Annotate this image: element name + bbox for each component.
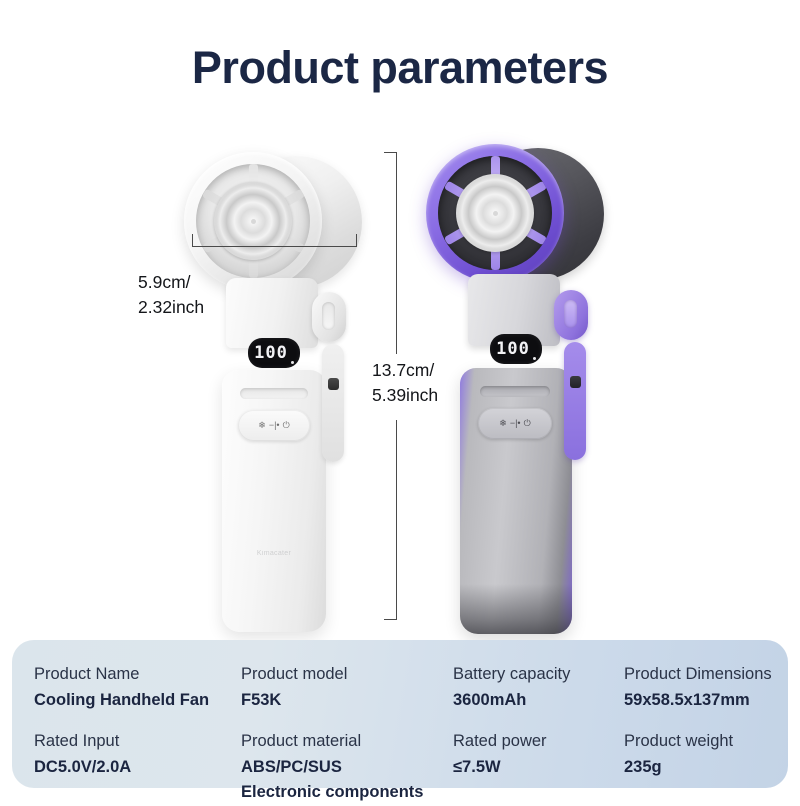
spec-item-rated-input: Rated Input DC5.0V/2.0A <box>34 729 241 806</box>
spec-item-product-weight: Product weight 235g <box>624 729 800 806</box>
white-fan-side-strip <box>322 344 344 462</box>
spec-item-rated-power: Rated power ≤7.5W <box>453 729 624 806</box>
spec-item-product-model: Product model F53K <box>241 662 453 713</box>
spec-label: Product Name <box>34 662 241 688</box>
purple-fan-grille <box>438 156 552 270</box>
spec-label: Product weight <box>624 729 800 755</box>
purple-fan-pivot-slot <box>564 300 577 328</box>
spec-label: Product model <box>241 662 453 688</box>
white-fan-metal-hub <box>214 182 292 260</box>
white-fan-led-display: 100 <box>248 338 300 368</box>
width-dimension-line <box>192 246 357 247</box>
white-fan-control-button[interactable]: ❄ −|• ⏻ <box>238 410 310 441</box>
height-dimension-tick-bottom <box>384 619 397 620</box>
page-title: Product parameters <box>0 42 800 94</box>
width-dimension-tick-left <box>192 234 193 247</box>
height-dimension-line-lower <box>396 420 397 620</box>
spec-value: F53K <box>241 688 453 714</box>
purple-fan-head <box>426 144 612 284</box>
spec-label: Product material <box>241 729 453 755</box>
snowflake-icon: ❄ <box>499 419 507 428</box>
height-dimension-label: 13.7cm/ 5.39inch <box>372 358 502 408</box>
white-fan-led-value: 100 <box>254 343 288 363</box>
white-fan-brand-text: Kimacater <box>222 550 326 557</box>
spec-value: ≤7.5W <box>453 755 624 781</box>
power-icon: ⏻ <box>283 421 290 430</box>
spec-value: ABS/PC/SUS Electronic components <box>241 755 453 806</box>
spec-item-product-name: Product Name Cooling Handheld Fan <box>34 662 241 713</box>
spec-value: Cooling Handheld Fan <box>34 688 241 714</box>
spec-label: Product Dimensions <box>624 662 800 688</box>
spec-label: Rated Input <box>34 729 241 755</box>
specifications-panel: Product Name Cooling Handheld Fan Produc… <box>12 640 788 788</box>
fan-speed-icon: −|• <box>269 421 280 430</box>
spec-value: DC5.0V/2.0A <box>34 755 241 781</box>
purple-fan-control-button[interactable]: ❄ −|• ⏻ <box>478 408 552 439</box>
spec-item-product-material: Product material ABS/PC/SUS Electronic c… <box>241 729 453 806</box>
width-dimension-tick-right <box>356 234 357 247</box>
spec-value: 235g <box>624 755 800 781</box>
spec-value: 59x58.5x137mm <box>624 688 800 714</box>
snowflake-icon: ❄ <box>258 421 266 430</box>
spec-label: Rated power <box>453 729 624 755</box>
purple-fan-side-strip <box>564 342 586 460</box>
spec-label: Battery capacity <box>453 662 624 688</box>
white-fan-vent-slot <box>240 388 308 399</box>
spec-item-product-dimensions: Product Dimensions 59x58.5x137mm <box>624 662 800 713</box>
height-dimension-line-upper <box>396 152 397 354</box>
purple-fan-led-indicator-dot <box>533 357 536 360</box>
white-fan-grille <box>196 164 310 278</box>
fan-speed-icon: −|• <box>510 419 521 428</box>
height-dimension-tick-top <box>384 152 397 153</box>
power-icon: ⏻ <box>524 419 531 428</box>
purple-fan-handle-bottom-shade <box>460 584 572 634</box>
spec-value: 3600mAh <box>453 688 624 714</box>
white-fan-pivot-slot <box>322 302 335 330</box>
purple-fan-usb-port[interactable] <box>570 376 581 388</box>
product-image-stage: 100 ❄ −|• ⏻ Kimacater <box>0 130 800 640</box>
white-fan-usb-port[interactable] <box>328 378 339 390</box>
spec-item-battery-capacity: Battery capacity 3600mAh <box>453 662 624 713</box>
product-white-fan: 100 ❄ −|• ⏻ Kimacater <box>172 152 387 632</box>
width-dimension-label: 5.9cm/ 2.32inch <box>138 270 258 320</box>
purple-fan-metal-hub <box>456 174 534 252</box>
purple-fan-led-value: 100 <box>496 339 530 359</box>
white-fan-led-indicator-dot <box>291 361 294 364</box>
